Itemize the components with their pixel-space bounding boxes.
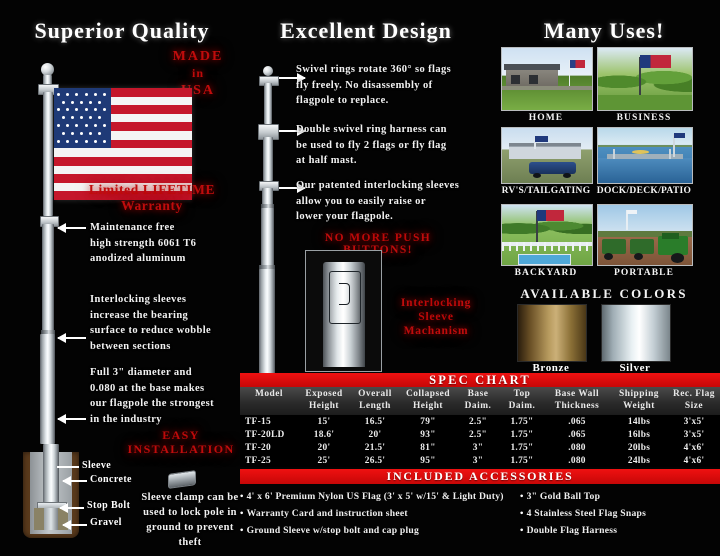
sleeve-hook-graphic xyxy=(339,283,350,304)
mid-ball-top-icon xyxy=(263,66,273,76)
cell-exposed-height: 18.6' xyxy=(298,428,350,441)
cell-base-diam: 3" xyxy=(456,441,500,454)
easy-installation-heading: EASY INSTALLATION xyxy=(118,428,244,456)
interlocking-sleeve-photo xyxy=(305,250,382,372)
easy-installation-line-2: INSTALLATION xyxy=(118,442,244,456)
use-photo-portable xyxy=(597,204,693,266)
use-caption-backyard: BACKYARD xyxy=(501,268,591,278)
cell-exposed-height: 15' xyxy=(298,415,350,428)
callout-diameter: Full 3" diameter and 0.080 at the base m… xyxy=(90,365,260,427)
callout-interlocking-line-3: lower your flagpole. xyxy=(296,209,494,225)
callout-swivel-line-3: flagpole to replace. xyxy=(296,93,486,109)
warranty-line-1: Limited LIFETIME xyxy=(62,182,242,198)
callout-diameter-line-2: 0.080 at the base makes xyxy=(90,381,260,397)
table-row: TF-25 25' 26.5' 95" 3" 1.75" .080 24lbs … xyxy=(240,454,720,467)
middle-column-heading: Excellent Design xyxy=(246,18,486,44)
cell-overall-length: 21.5' xyxy=(350,441,400,454)
label-concrete: Concrete xyxy=(90,474,132,485)
accessories-column-right: •3" Gold Ball Top •4 Stainless Steel Fla… xyxy=(520,488,720,539)
infographic-canvas: Superior Quality MADE in USA xyxy=(0,0,720,556)
callout-sleeves: Interlocking sleeves increase the bearin… xyxy=(90,292,255,354)
cell-rec-flag-size: 4'x6' xyxy=(668,454,720,467)
label-stop-bolt: Stop Bolt xyxy=(87,500,130,511)
mid-pole-section-1 xyxy=(264,83,272,124)
flag-canton xyxy=(54,88,111,148)
callout-material-line-1: Maintenance free xyxy=(90,220,240,236)
use-caption-business: BUSINESS xyxy=(597,113,691,123)
accessories-column-left: •4' x 6' Premium Nylon US Flag (3' x 5' … xyxy=(240,488,520,539)
cell-model: TF-20 xyxy=(240,441,298,454)
mid-pole-section-2 xyxy=(263,137,273,181)
col-top-diam: Top Daim. xyxy=(500,387,544,415)
mechanism-caption: Interlocking Sleeve Machanism xyxy=(382,296,490,338)
mechanism-caption-line-3: Machanism xyxy=(382,324,490,338)
callout-material: Maintenance free high strength 6061 T6 a… xyxy=(90,220,240,267)
list-item: •4' x 6' Premium Nylon US Flag (3' x 5' … xyxy=(240,488,520,505)
spec-chart-section: SPEC CHART Model Exposed Height Overall … xyxy=(240,373,720,539)
label-line-stop-bolt xyxy=(60,507,84,509)
callout-diameter-line-1: Full 3" diameter and xyxy=(90,365,260,381)
callout-material-line-2: high strength 6061 T6 xyxy=(90,236,240,252)
color-swatch-silver xyxy=(601,304,671,362)
callout-double-harness: Double swivel ring harness can be used t… xyxy=(296,122,491,169)
pole-section-2 xyxy=(42,224,54,332)
cell-shipping-weight: 14lbs xyxy=(610,415,668,428)
label-line-sleeve xyxy=(57,466,79,468)
spec-chart-body: TF-15 15' 16.5' 79" 2.5" 1.75" .065 14lb… xyxy=(240,415,720,467)
arrow-diameter xyxy=(58,418,86,420)
sleeve-clamp-image xyxy=(168,470,196,489)
left-column-heading: Superior Quality xyxy=(8,18,236,44)
use-photo-dock xyxy=(597,127,693,184)
col-overall-length: Overall Length xyxy=(350,387,400,415)
spec-chart-header-row: Model Exposed Height Overall Length Coll… xyxy=(240,387,720,415)
bullet-icon: • xyxy=(240,508,244,519)
callout-diameter-line-4: in the industry xyxy=(90,412,260,428)
table-row: TF-20LD 18.6' 20' 93" 2.5" 1.75" .065 16… xyxy=(240,428,720,441)
cell-rec-flag-size: 3'x5' xyxy=(668,428,720,441)
cell-base-wall-thickness: .080 xyxy=(544,454,610,467)
list-item: •4 Stainless Steel Flag Snaps xyxy=(520,505,720,522)
col-base-wall-thickness: Base Wall Thickness xyxy=(544,387,610,415)
callout-swivel-line-2: fly freely. No disassembly of xyxy=(296,78,486,94)
right-column-heading: Many Uses! xyxy=(496,18,712,44)
callout-interlocking-line-1: Our patented interlocking sleeves xyxy=(296,178,494,194)
list-item: •Double Flag Harness xyxy=(520,522,720,539)
cell-base-wall-thickness: .065 xyxy=(544,415,610,428)
available-colors-heading: AVAILABLE COLORS xyxy=(496,286,712,302)
list-item: •Ground Sleeve w/stop bolt and cap plug xyxy=(240,522,520,539)
callout-harness-line-1: Double swivel ring harness can xyxy=(296,122,491,138)
cell-rec-flag-size: 3'x5' xyxy=(668,415,720,428)
cell-rec-flag-size: 4'x6' xyxy=(668,441,720,454)
cell-base-wall-thickness: .065 xyxy=(544,428,610,441)
sleeve-bottom xyxy=(44,508,58,530)
label-line-concrete xyxy=(63,480,87,482)
cell-shipping-weight: 16lbs xyxy=(610,428,668,441)
callout-sleeves-line-1: Interlocking sleeves xyxy=(90,292,255,308)
use-caption-home: HOME xyxy=(501,113,591,123)
callout-interlocking-line-2: allow you to easily raise or xyxy=(296,194,494,210)
spec-chart-head: Model Exposed Height Overall Length Coll… xyxy=(240,387,720,415)
col-rec-flag-size: Rec. Flag Size xyxy=(668,387,720,415)
callout-diameter-line-3: our flagpole the strongest xyxy=(90,396,260,412)
use-caption-dock: DOCK/DECK/PATIO xyxy=(594,186,694,196)
callout-sleeves-line-4: between sections xyxy=(90,339,255,355)
mechanism-caption-line-1: Interlocking xyxy=(382,296,490,310)
cell-shipping-weight: 20lbs xyxy=(610,441,668,454)
cell-top-diam: 1.75" xyxy=(500,415,544,428)
made-line-2: in xyxy=(158,65,238,82)
use-photo-backyard xyxy=(501,204,593,266)
cell-collapsed-height: 95" xyxy=(400,454,456,467)
cell-base-diam: 2.5" xyxy=(456,415,500,428)
clamp-note-line-2: used to lock pole in xyxy=(138,505,242,520)
use-photo-tailgating xyxy=(501,127,593,184)
bullet-icon: • xyxy=(520,491,524,502)
table-row: TF-20 20' 21.5' 81" 3" 1.75" .080 20lbs … xyxy=(240,441,720,454)
table-row: TF-15 15' 16.5' 79" 2.5" 1.75" .065 14lb… xyxy=(240,415,720,428)
cell-base-wall-thickness: .080 xyxy=(544,441,610,454)
arrow-sleeves xyxy=(58,337,86,339)
clamp-note-line-3: ground to prevent theft xyxy=(138,520,242,550)
bullet-icon: • xyxy=(240,525,244,536)
use-caption-tailgating: RV'S/TAILGATING xyxy=(492,186,600,196)
cell-collapsed-height: 79" xyxy=(400,415,456,428)
clamp-note-line-1: Sleeve clamp can be xyxy=(138,490,242,505)
label-sleeve: Sleeve xyxy=(82,460,111,471)
cell-model: TF-15 xyxy=(240,415,298,428)
callout-sleeves-line-3: surface to reduce wobble xyxy=(90,323,255,339)
callout-material-line-3: anodized aluminum xyxy=(90,251,240,267)
cell-exposed-height: 25' xyxy=(298,454,350,467)
col-exposed-height: Exposed Height xyxy=(298,387,350,415)
col-shipping-weight: Shipping Weight xyxy=(610,387,668,415)
cell-overall-length: 26.5' xyxy=(350,454,400,467)
use-caption-portable: PORTABLE xyxy=(597,268,691,278)
warranty-callout: Limited LIFETIME Warranty xyxy=(62,182,242,214)
made-line-1: MADE xyxy=(158,48,238,65)
cell-model: TF-20LD xyxy=(240,428,298,441)
pole-section-1 xyxy=(43,92,53,216)
warranty-line-2: Warranty xyxy=(62,198,242,214)
use-photo-business xyxy=(597,47,693,111)
list-item: •3" Gold Ball Top xyxy=(520,488,720,505)
included-accessories-title: INCLUDED ACCESSORIES xyxy=(240,469,720,484)
col-model: Model xyxy=(240,387,298,415)
color-swatch-bronze xyxy=(517,304,587,362)
pole-in-ground xyxy=(43,444,59,506)
col-base-diam: Base Daim. xyxy=(456,387,500,415)
callout-harness-line-2: be used to fly 2 flags or fly flag xyxy=(296,138,491,154)
callout-swivel-rings: Swivel rings rotate 360° so flags fly fr… xyxy=(296,62,486,109)
cell-overall-length: 20' xyxy=(350,428,400,441)
mid-pole-section-4 xyxy=(261,208,274,266)
cell-shipping-weight: 24lbs xyxy=(610,454,668,467)
included-accessories-list: •4' x 6' Premium Nylon US Flag (3' x 5' … xyxy=(240,484,720,539)
callout-harness-line-3: at half mast. xyxy=(296,153,491,169)
use-photo-home xyxy=(501,47,593,111)
mid-pole-section-5 xyxy=(259,269,275,379)
cell-collapsed-height: 81" xyxy=(400,441,456,454)
cell-base-diam: 3" xyxy=(456,454,500,467)
cell-overall-length: 16.5' xyxy=(350,415,400,428)
callout-sleeves-line-2: increase the bearing xyxy=(90,308,255,324)
mechanism-caption-line-2: Sleeve xyxy=(382,310,490,324)
easy-installation-line-1: EASY xyxy=(118,428,244,442)
sleeve-clamp-note: Sleeve clamp can be used to lock pole in… xyxy=(138,490,242,550)
cell-exposed-height: 20' xyxy=(298,441,350,454)
cell-top-diam: 1.75" xyxy=(500,441,544,454)
bullet-icon: • xyxy=(520,508,524,519)
col-collapsed-height: Collapsed Height xyxy=(400,387,456,415)
pole-section-3 xyxy=(40,334,55,444)
arrow-material xyxy=(58,227,86,229)
list-item: •Warranty Card and instruction sheet xyxy=(240,505,520,522)
cell-base-diam: 2.5" xyxy=(456,428,500,441)
label-line-gravel xyxy=(63,524,87,526)
bullet-icon: • xyxy=(520,525,524,536)
cell-top-diam: 1.75" xyxy=(500,454,544,467)
callout-interlocking: Our patented interlocking sleeves allow … xyxy=(296,178,494,225)
cell-collapsed-height: 93" xyxy=(400,428,456,441)
spec-chart-title: SPEC CHART xyxy=(240,373,720,387)
bullet-icon: • xyxy=(240,491,244,502)
mid-pole-section-3 xyxy=(262,188,273,205)
spec-chart-table: Model Exposed Height Overall Length Coll… xyxy=(240,387,720,467)
label-gravel: Gravel xyxy=(90,517,122,528)
cell-top-diam: 1.75" xyxy=(500,428,544,441)
cell-model: TF-25 xyxy=(240,454,298,467)
callout-swivel-line-1: Swivel rings rotate 360° so flags xyxy=(296,62,486,78)
